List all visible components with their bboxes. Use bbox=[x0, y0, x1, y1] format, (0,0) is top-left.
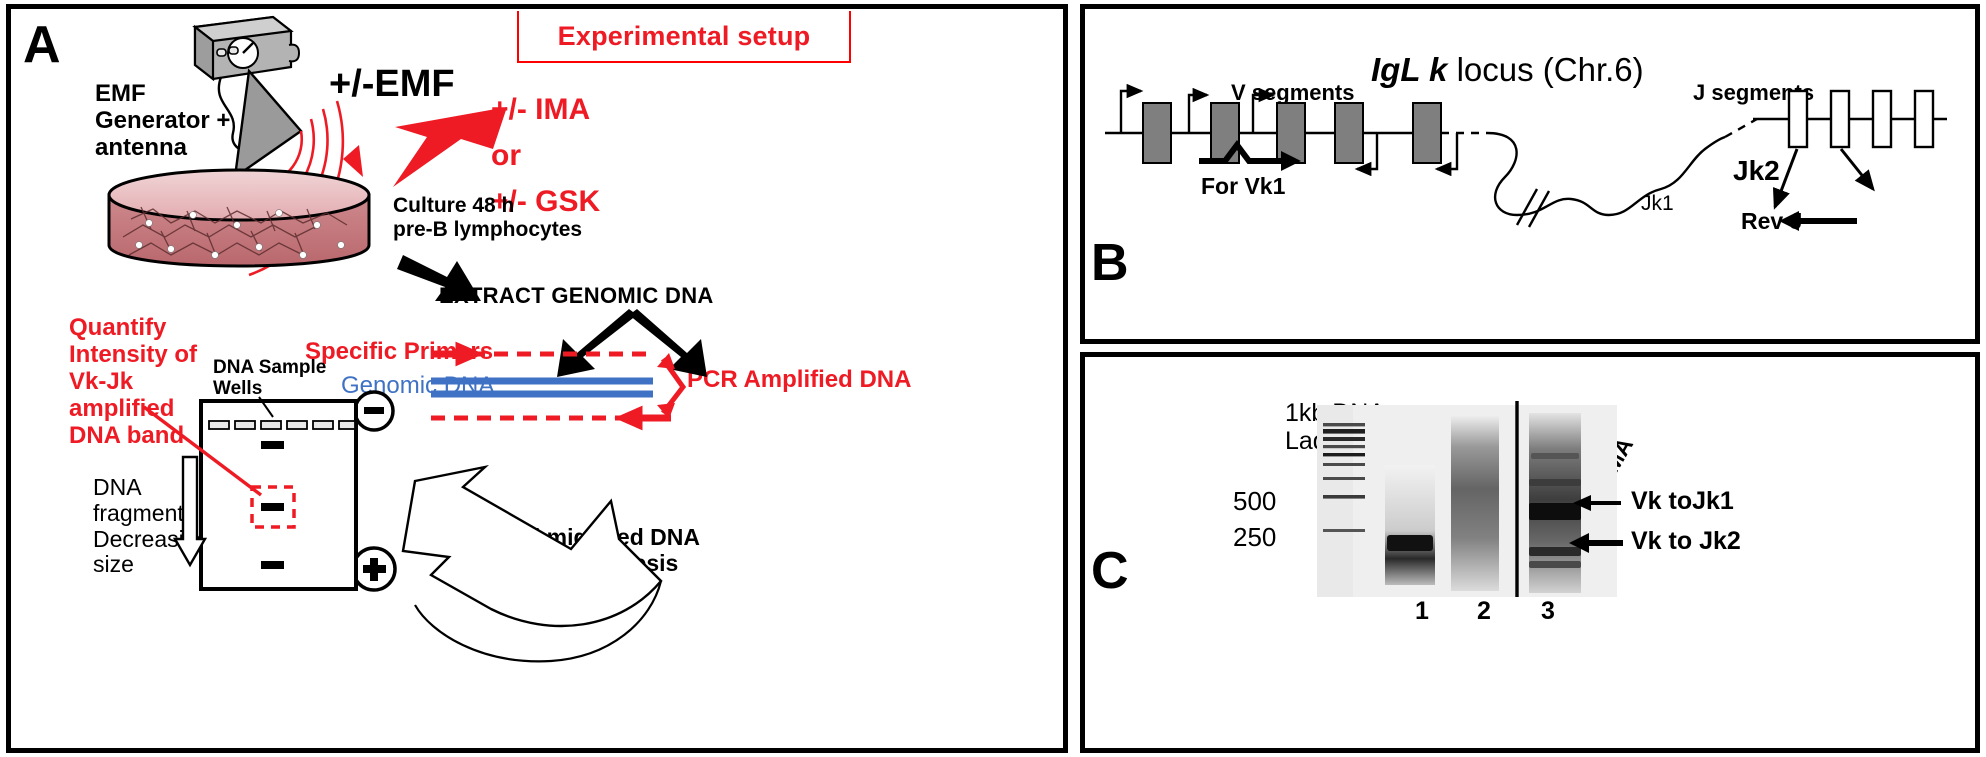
panel-c-graphics bbox=[1085, 357, 1975, 748]
treatment-arrow bbox=[393, 107, 507, 187]
extract-arrow bbox=[397, 255, 481, 301]
antenna-icon bbox=[235, 71, 301, 177]
split-arrows bbox=[557, 309, 707, 377]
panel-b-graphics bbox=[1085, 9, 1975, 339]
agarose-gel-box bbox=[201, 397, 356, 589]
panel-a: A Experimental setup EMF Generator + ant… bbox=[6, 4, 1068, 753]
electrophoresis-arrow bbox=[403, 467, 661, 626]
figure-root: A Experimental setup EMF Generator + ant… bbox=[0, 0, 1986, 757]
panel-b: B IgL k locus (Chr.6) V segments J segme… bbox=[1080, 4, 1980, 344]
electrodes bbox=[353, 392, 395, 590]
panel-c: C 1kb DNA Ladder Ctr PCR -IMA +3μM IMA 5… bbox=[1080, 352, 1980, 753]
culture-dish bbox=[109, 170, 369, 266]
gel-image bbox=[1317, 401, 1617, 597]
emf-generator-device bbox=[195, 17, 299, 79]
panel-a-graphics bbox=[11, 9, 1063, 748]
pcr-schematic bbox=[431, 347, 683, 425]
